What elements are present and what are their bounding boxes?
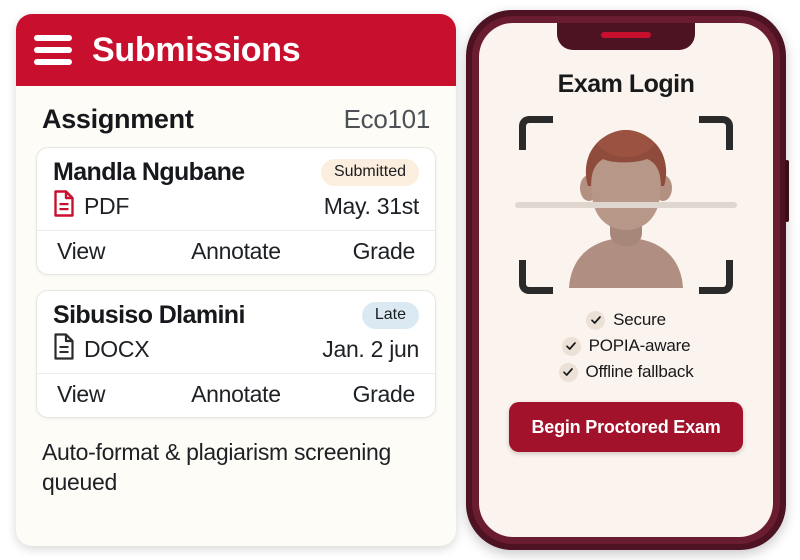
security-checklist: Secure POPIA-aware Offline fallback — [559, 310, 694, 382]
phone-screen: Exam Login — [479, 23, 773, 537]
assignment-label: Assignment — [42, 104, 194, 135]
file-type: PDF — [84, 193, 129, 220]
submission-name-row: Sibusiso Dlamini Late — [53, 301, 419, 330]
check-icon — [562, 337, 581, 356]
grade-action[interactable]: Grade — [353, 238, 415, 265]
submission-date: Jan. 2 jun — [322, 336, 419, 363]
bracket-bottom-right — [699, 260, 733, 294]
checklist-item: POPIA-aware — [562, 336, 691, 356]
view-action[interactable]: View — [57, 381, 105, 408]
submission-actions: View Annotate Grade — [37, 373, 435, 417]
checklist-label: Offline fallback — [586, 362, 694, 382]
file-type: DOCX — [84, 336, 149, 363]
bracket-bottom-left — [519, 260, 553, 294]
submission-actions: View Annotate Grade — [37, 230, 435, 274]
hamburger-bar — [34, 59, 72, 65]
submission-card[interactable]: Sibusiso Dlamini Late DOC — [36, 290, 436, 418]
checklist-label: POPIA-aware — [589, 336, 691, 356]
status-badge: Late — [362, 302, 419, 329]
submissions-panel: Submissions Assignment Eco101 Mandla Ngu… — [16, 14, 456, 546]
file-block: DOCX — [53, 333, 149, 365]
annotate-action[interactable]: Annotate — [105, 238, 352, 265]
face-scan-icon — [519, 116, 733, 294]
checklist-item: Offline fallback — [559, 362, 694, 382]
pdf-file-icon — [53, 190, 75, 222]
file-block: PDF — [53, 190, 129, 222]
check-icon — [586, 311, 605, 330]
status-badge: Submitted — [321, 159, 419, 186]
submission-card-body: Mandla Ngubane Submitted — [37, 148, 435, 230]
grade-action[interactable]: Grade — [353, 381, 415, 408]
docx-file-icon — [53, 333, 75, 365]
begin-proctored-exam-button[interactable]: Begin Proctored Exam — [509, 402, 743, 452]
submission-card[interactable]: Mandla Ngubane Submitted — [36, 147, 436, 275]
phone-mockup: Exam Login — [466, 10, 786, 550]
speaker-icon — [601, 32, 651, 38]
assignment-row: Assignment Eco101 — [36, 100, 436, 147]
submission-meta-row: DOCX Jan. 2 jun — [53, 333, 419, 365]
submission-date: May. 31st — [324, 193, 419, 220]
page-title: Submissions — [92, 33, 300, 67]
hamburger-bar — [34, 35, 72, 41]
panel-body: Assignment Eco101 Mandla Ngubane Submitt… — [16, 86, 456, 546]
submission-card-body: Sibusiso Dlamini Late DOC — [37, 291, 435, 373]
student-name: Sibusiso Dlamini — [53, 301, 245, 330]
check-icon — [559, 363, 578, 382]
status-note: Auto-format & plagiarism screening queue… — [36, 433, 436, 498]
app-header: Submissions — [16, 14, 456, 86]
annotate-action[interactable]: Annotate — [105, 381, 352, 408]
checklist-item: Secure — [586, 310, 666, 330]
bracket-top-left — [519, 116, 553, 150]
student-name: Mandla Ngubane — [53, 158, 245, 187]
scan-line — [515, 202, 737, 208]
exam-screen-title: Exam Login — [558, 70, 695, 99]
submission-meta-row: PDF May. 31st — [53, 190, 419, 222]
hamburger-icon[interactable] — [34, 35, 72, 65]
hamburger-bar — [34, 47, 72, 53]
phone-notch — [557, 23, 695, 50]
power-button[interactable] — [785, 160, 789, 222]
view-action[interactable]: View — [57, 238, 105, 265]
assignment-course-code: Eco101 — [344, 104, 430, 135]
bracket-top-right — [699, 116, 733, 150]
submission-name-row: Mandla Ngubane Submitted — [53, 158, 419, 187]
checklist-label: Secure — [613, 310, 666, 330]
